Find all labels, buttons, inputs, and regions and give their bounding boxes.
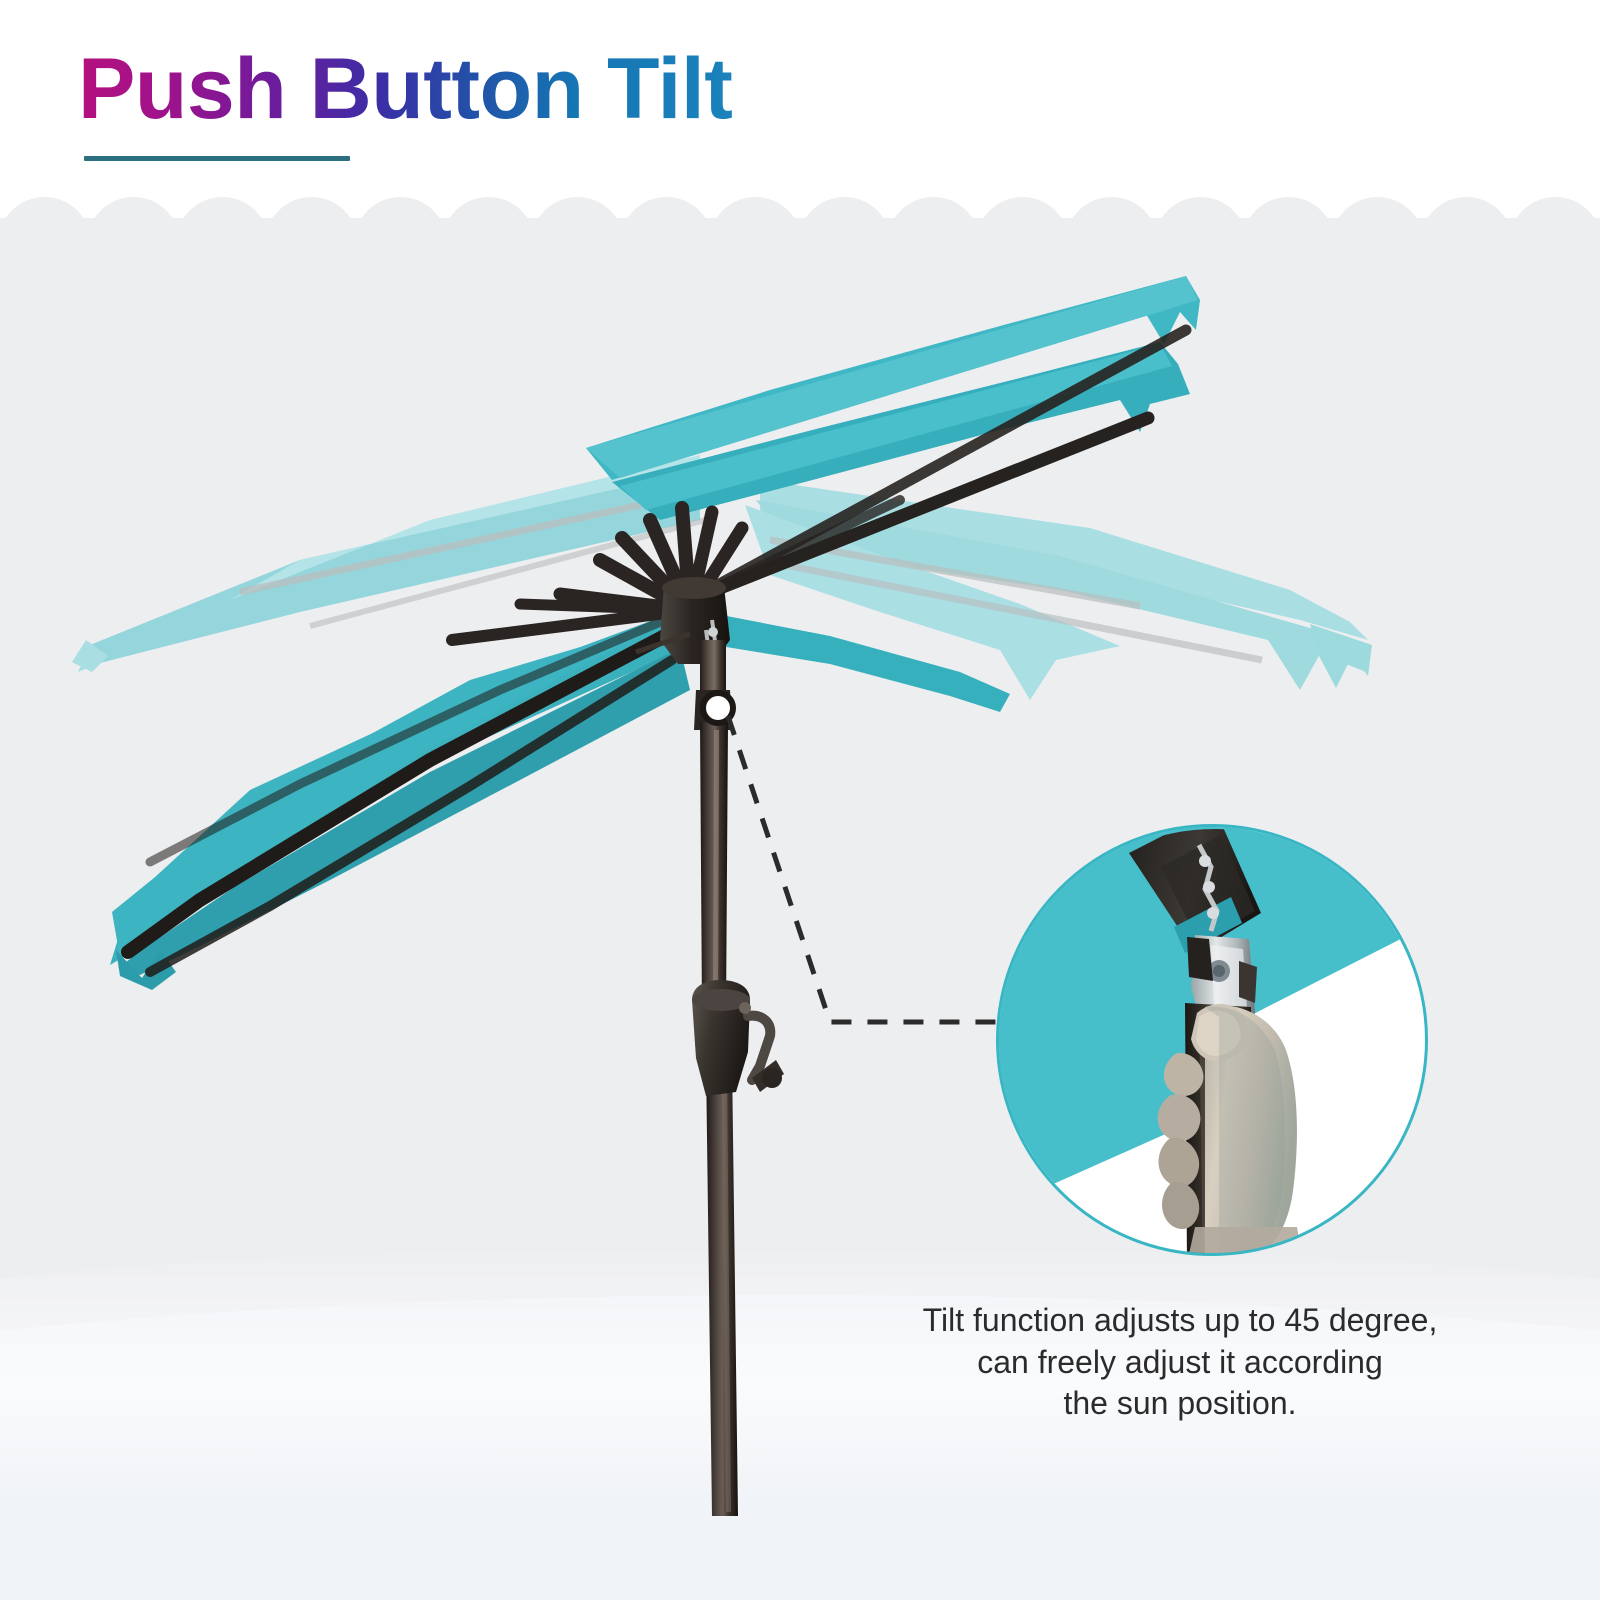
caption-text: Tilt function adjusts up to 45 degree, c… (880, 1300, 1480, 1425)
hand-on-pole-illustration (999, 827, 1428, 1256)
caption-line-1: Tilt function adjusts up to 45 degree, (880, 1300, 1480, 1342)
caption-line-2: can freely adjust it according (880, 1342, 1480, 1384)
title-underline (84, 156, 350, 161)
page-title: Push Button Tilt (78, 46, 732, 132)
detail-inset-circle (996, 824, 1428, 1256)
hand (1158, 1004, 1303, 1256)
scallop-edge-decoration (0, 218, 1600, 250)
caption-line-3: the sun position. (880, 1383, 1480, 1425)
product-feature-image: Push Button Tilt (0, 0, 1600, 1600)
